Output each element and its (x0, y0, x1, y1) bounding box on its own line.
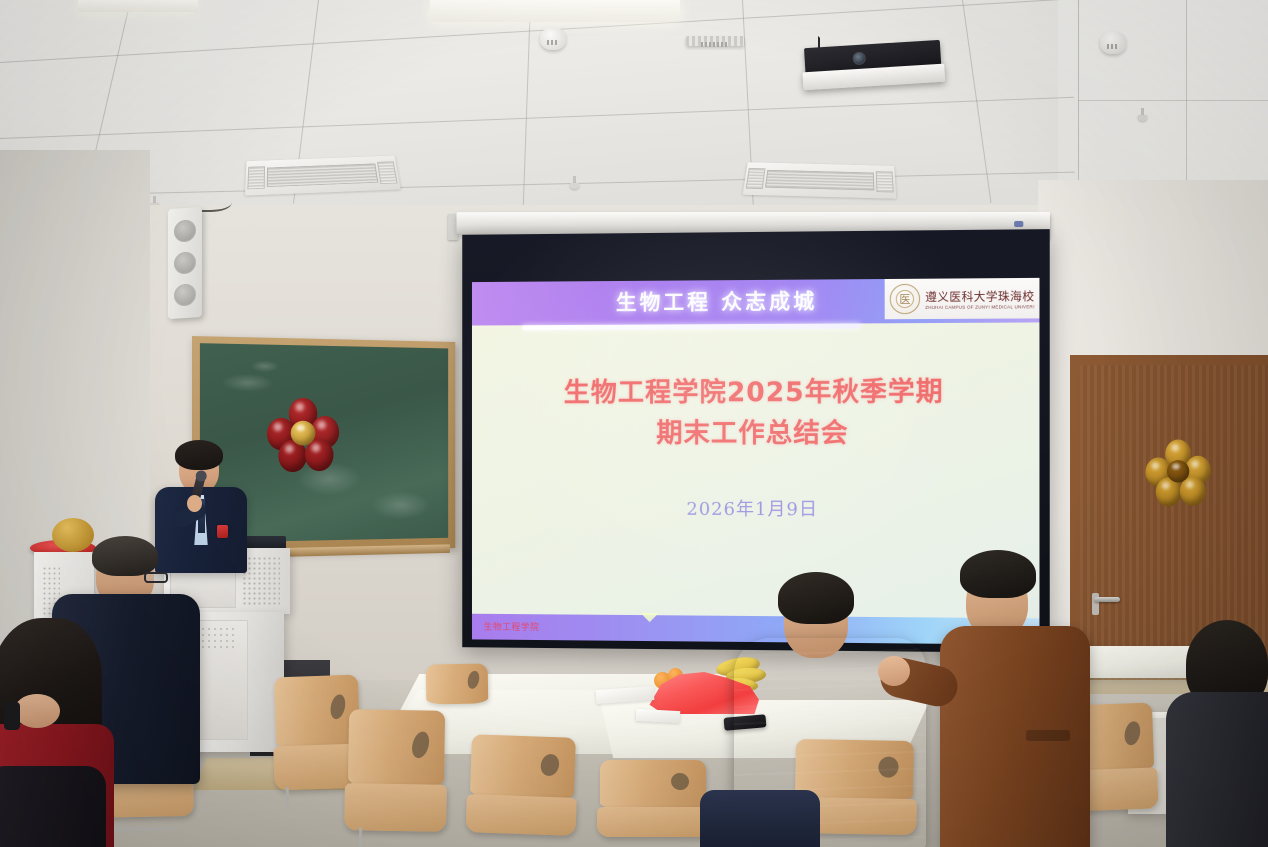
chair-backrest (348, 709, 445, 790)
jacket-pocket-flap (1026, 730, 1070, 741)
podium-lower-cabinet (186, 612, 284, 752)
chair[interactable] (426, 663, 489, 704)
slide-main-title: 生物工程学院2025年秋季学期 期末工作总结会 (472, 371, 1040, 454)
audience-seated-shoulder (700, 790, 820, 847)
university-logo: 医 遵义医科大学珠海校区 ZHUHAI CAMPUS OF ZUNYI MEDI… (885, 278, 1040, 319)
ceiling-projector (804, 36, 943, 90)
chalk-smudge (221, 373, 273, 391)
chair-handle-cutout (538, 752, 561, 778)
ac-vent (377, 161, 397, 183)
presenter-hair (175, 440, 223, 470)
chair-seat (344, 783, 447, 831)
audience-hair (778, 572, 854, 624)
eyeglasses-icon (144, 572, 168, 583)
chair[interactable] (468, 734, 576, 847)
podium-vent-mesh (200, 626, 234, 652)
sprinkler-head (1138, 108, 1147, 122)
podium-speaker-mesh (242, 556, 280, 606)
ac-cassette-unit (743, 162, 897, 199)
ac-grille (267, 164, 378, 187)
balloon-flower-gold (1145, 439, 1212, 506)
wall-speaker (168, 207, 202, 319)
chair[interactable] (347, 709, 445, 847)
projection-screen: 生物工程 众志成城 医 遵义医科大学珠海校区 ZHUHAI CAMPUS OF … (462, 229, 1050, 653)
chalk-smudge (251, 360, 280, 372)
chair-backrest (274, 675, 361, 752)
balloon-center (291, 421, 316, 446)
smoke-detector (1100, 32, 1126, 54)
slide-banner-title: 生物工程 众志成城 (538, 281, 896, 321)
ac-cassette-unit (245, 156, 401, 196)
chair-seat (465, 794, 576, 836)
chair-seat (597, 807, 709, 837)
audience-jacket (1166, 692, 1268, 847)
gold-balloon (52, 518, 94, 552)
university-seal-icon: 医 (890, 284, 920, 314)
chair-backrest (600, 760, 706, 810)
chair-leg (358, 827, 361, 847)
speaker-driver (174, 283, 196, 307)
ceiling-grid-line (1078, 100, 1268, 101)
audience-hand (14, 694, 60, 728)
screen-indicator-led (1014, 221, 1023, 227)
balloon-center (1167, 460, 1189, 482)
chair[interactable] (600, 760, 706, 847)
chair-handle-cutout (1122, 720, 1141, 746)
logo-text-block: 遵义医科大学珠海校区 ZHUHAI CAMPUS OF ZUNYI MEDICA… (925, 288, 1034, 310)
meeting-room-photo: 生物工程 众志成城 医 遵义医科大学珠海校区 ZHUHAI CAMPUS OF … (0, 0, 1268, 847)
chair-backrest (470, 734, 576, 802)
speaker-driver (174, 219, 196, 243)
slide-title-line-1: 生物工程学院2025年秋季学期 (472, 371, 1040, 413)
chair-handle-cutout (329, 693, 348, 721)
chair-handle-cutout (466, 670, 480, 690)
wristwatch-icon (4, 702, 20, 730)
ceiling-light (78, 0, 198, 12)
audience-hair (92, 536, 158, 576)
audience-hair (960, 550, 1036, 598)
balloon-flower-red (267, 398, 341, 472)
chair-handle-cutout (669, 771, 691, 792)
slide-footer-text: 生物工程学院 (484, 620, 540, 633)
documents-on-table (636, 709, 681, 723)
slide-date: 2026年1月9日 (472, 494, 1040, 522)
audience-jacket (0, 766, 106, 847)
presentation-slide (472, 278, 1040, 645)
ceiling-light (430, 0, 680, 22)
chevron-down-icon (641, 613, 659, 622)
presenter-badge (217, 525, 228, 538)
ac-vent (248, 166, 265, 189)
speaker-driver (174, 251, 196, 275)
ac-vent (746, 168, 765, 189)
chalk-smudge (371, 491, 431, 520)
logo-institution-cn: 遵义医科大学珠海校区 (925, 288, 1034, 305)
sprinkler-head (570, 176, 579, 190)
door-handle[interactable] (1094, 597, 1120, 602)
logo-institution-en: ZHUHAI CAMPUS OF ZUNYI MEDICAL UNIVERSIT… (925, 304, 1034, 310)
chair-handle-cutout (410, 729, 433, 759)
ac-vent (876, 171, 894, 192)
smoke-detector (540, 28, 566, 50)
chair-leg (286, 787, 290, 813)
slide-title-line-2: 期末工作总结会 (472, 413, 1040, 455)
ac-grille (765, 170, 874, 191)
seal-glyph: 医 (899, 291, 910, 307)
chair-backrest (426, 663, 489, 704)
ceiling-vent (686, 36, 744, 46)
presenter-hand (187, 495, 202, 512)
audience-hand (878, 656, 910, 686)
